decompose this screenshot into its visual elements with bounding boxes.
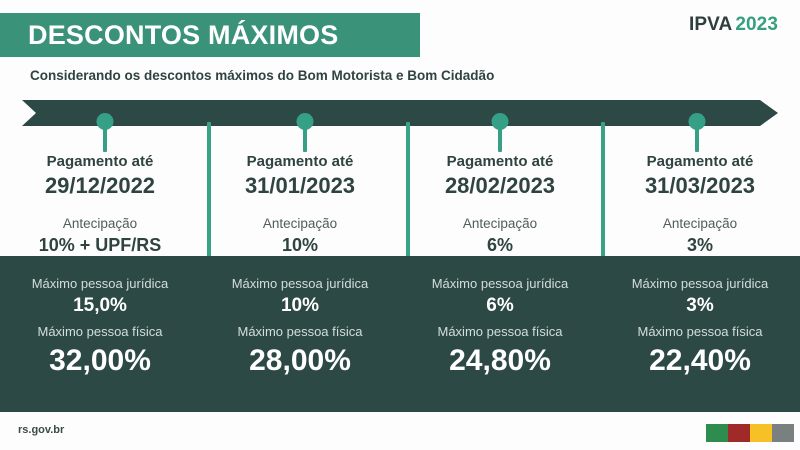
payment-column-1-top: Pagamento até 29/12/2022 Antecipação 10%…: [0, 150, 200, 256]
brand-year: 2023: [735, 14, 778, 35]
anticipation-label: Antecipação: [263, 216, 337, 232]
payment-date: 29/12/2022: [45, 173, 155, 199]
timeline-stem-1: [103, 120, 107, 152]
flag-swatch-red: [728, 424, 750, 442]
brand-name: IPVA: [689, 14, 732, 35]
payment-date: 28/02/2023: [445, 173, 555, 199]
timeline-stem-2: [303, 120, 307, 152]
anticipation-label: Antecipação: [663, 216, 737, 232]
payment-column-3-top: Pagamento até 28/02/2023 Antecipação 6%: [400, 150, 600, 256]
payment-label: Pagamento até: [447, 153, 554, 172]
brand-logo: IPVA2023: [689, 14, 778, 36]
timeline-stem-4: [695, 120, 699, 152]
timeline-arrow: [22, 100, 778, 126]
footer: rs.gov.br: [0, 412, 800, 450]
flag-swatch-green: [706, 424, 728, 442]
infographic-root: DESCONTOS MÁXIMOS IPVA2023 Considerando …: [0, 0, 800, 450]
payment-label: Pagamento até: [47, 153, 154, 172]
anticipation-value: 10% + UPF/RS: [39, 234, 162, 257]
timeline-stem-3: [498, 120, 502, 152]
state-flag-swatches: [706, 424, 794, 442]
payment-label: Pagamento até: [247, 153, 354, 172]
anticipation-label: Antecipação: [463, 216, 537, 232]
arrow-bar-shape: [22, 100, 778, 126]
flag-swatch-yellow: [750, 424, 772, 442]
footer-url[interactable]: rs.gov.br: [18, 424, 64, 436]
anticipation-value: 10%: [282, 234, 318, 257]
payment-date: 31/03/2023: [645, 173, 755, 199]
flag-swatch-gray: [772, 424, 794, 442]
anticipation-value: 3%: [687, 234, 713, 257]
subtitle: Considerando os descontos máximos do Bom…: [30, 68, 494, 83]
anticipation-value: 6%: [487, 234, 513, 257]
payment-column-4-top: Pagamento até 31/03/2023 Antecipação 3%: [600, 150, 800, 256]
title-banner: DESCONTOS MÁXIMOS: [0, 13, 420, 57]
page-title: DESCONTOS MÁXIMOS: [0, 22, 338, 49]
maximum-discount-panel: [0, 256, 800, 412]
anticipation-label: Antecipação: [63, 216, 137, 232]
payment-date: 31/01/2023: [245, 173, 355, 199]
payment-column-2-top: Pagamento até 31/01/2023 Antecipação 10%: [200, 150, 400, 256]
payment-label: Pagamento até: [647, 153, 754, 172]
